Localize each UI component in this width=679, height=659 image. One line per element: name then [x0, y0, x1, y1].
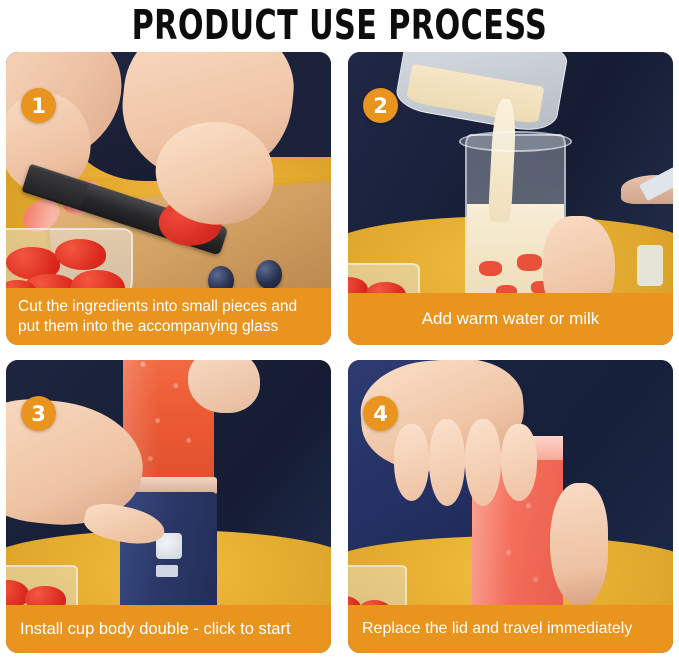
- step-panel-1: 1 Cut the ingredients into small pieces …: [6, 52, 331, 345]
- blender-control-panel: [637, 245, 663, 286]
- finger: [501, 424, 537, 500]
- title-bar: PRODUCT USE PROCESS: [0, 0, 679, 50]
- step-number-badge-2: 2: [363, 88, 398, 123]
- strawberry: [55, 239, 107, 270]
- steps-grid: 1 Cut the ingredients into small pieces …: [6, 52, 673, 653]
- step-number-badge-3: 3: [21, 396, 56, 431]
- step-caption-1: Cut the ingredients into small pieces an…: [6, 288, 331, 345]
- finger: [465, 419, 501, 507]
- finger: [429, 419, 465, 507]
- jar-rim: [459, 131, 573, 152]
- step-caption-4: Replace the lid and travel immediately: [348, 605, 673, 653]
- step-number-badge-1: 1: [21, 88, 56, 123]
- step-caption-2: Add warm water or milk: [348, 293, 673, 345]
- step-panel-2: 2 Add warm water or milk: [348, 52, 673, 345]
- step-caption-4-text: Replace the lid and travel immediately: [362, 620, 632, 638]
- step-panel-4: 4 Replace the lid and travel immediately: [348, 360, 673, 653]
- step-caption-2-text: Add warm water or milk: [422, 309, 600, 329]
- usb-port: [156, 565, 179, 577]
- strawberry-piece: [517, 254, 542, 271]
- product-use-process-infographic: PRODUCT USE PROCESS: [0, 0, 679, 659]
- page-title: PRODUCT USE PROCESS: [132, 2, 548, 48]
- hand-holding-bottle: [550, 483, 609, 606]
- step-caption-3: Install cup body double - click to start: [6, 605, 331, 653]
- step-caption-3-text: Install cup body double - click to start: [20, 620, 291, 639]
- step-caption-1-text: Cut the ingredients into small pieces an…: [18, 297, 319, 337]
- strawberry-piece: [479, 261, 502, 276]
- finger: [394, 424, 430, 500]
- step-panel-3: 3 Install cup body double - click to sta…: [6, 360, 331, 653]
- step-number-badge-4: 4: [363, 396, 398, 431]
